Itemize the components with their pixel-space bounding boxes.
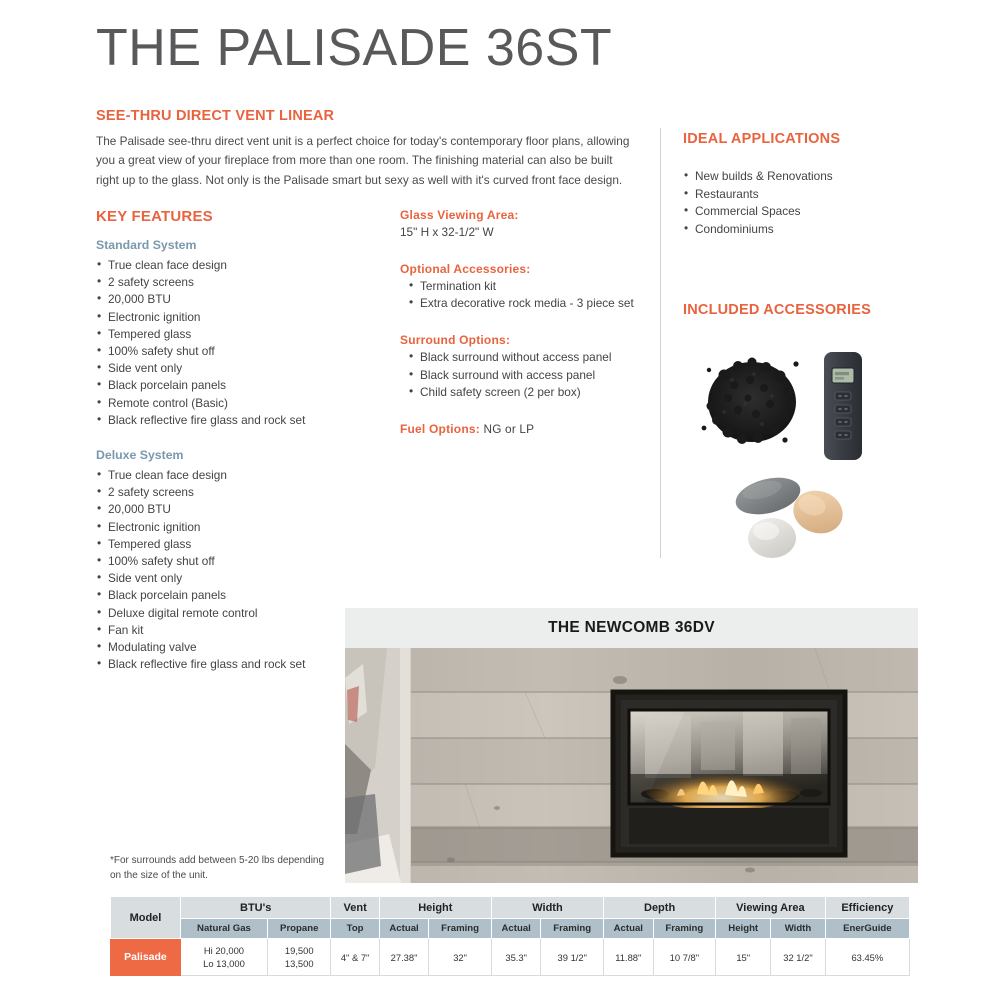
spec-table: Model BTU's Vent Height Width Depth View… [110,896,910,976]
sub-propane: Propane [268,919,331,939]
col-btus: BTU's [180,897,331,919]
list-item: Electronic ignition [96,519,396,536]
cell-width-actual: 35.3" [491,939,541,976]
list-item: Black reflective fire glass and rock set [96,412,396,429]
table-head: Model BTU's Vent Height Width Depth View… [111,897,910,939]
list-item: 20,000 BTU [96,291,396,308]
list-item: Extra decorative rock media - 3 piece se… [400,295,650,312]
propane-hi: 19,500 [269,944,329,957]
col-efficiency: Efficiency [825,897,909,919]
fireplace-photo-illustration [345,648,918,883]
cell-viewing-height: 15" [716,939,771,976]
sub-natural-gas: Natural Gas [180,919,267,939]
surround-options-block: Surround Options: Black surround without… [400,333,650,401]
col-height: Height [379,897,491,919]
glass-viewing-area-value: 15" H x 32-1/2" W [400,224,650,241]
list-item: Commercial Spaces [683,203,953,221]
glass-viewing-area-label: Glass Viewing Area: [400,208,650,222]
sub-viewing-width: Width [771,919,825,939]
included-accessories-images [690,340,925,565]
fuel-options-block: Fuel Options: NG or LP [400,422,650,436]
digital-remote-control-icon [824,352,862,460]
cell-width-framing: 39 1/2" [541,939,604,976]
fireplace-photo [345,648,918,883]
col-width: Width [491,897,603,919]
intro-paragraph: The Palisade see-thru direct vent unit i… [96,132,636,190]
standard-system-heading: Standard System [96,238,396,252]
col-depth: Depth [604,897,716,919]
cell-viewing-width: 32 1/2" [771,939,825,976]
key-features-heading: KEY FEATURES [96,208,213,225]
sub-energuide: EnerGuide [825,919,909,939]
sub-depth-framing: Framing [653,919,716,939]
surround-options-label: Surround Options: [400,333,650,347]
col-model: Model [111,897,181,939]
ideal-applications-column: IDEAL APPLICATIONS New builds & Renovati… [683,131,953,238]
cell-model: Palisade [111,939,181,976]
product-photo-block: THE NEWCOMB 36DV [345,608,918,883]
sub-height-framing: Framing [429,919,492,939]
natural-gas-hi: Hi 20,000 [182,944,266,957]
list-item: Tempered glass [96,326,396,343]
accessories-illustration [690,340,925,565]
list-item: Remote control (Basic) [96,395,396,412]
cell-height-actual: 27.38" [379,939,429,976]
optional-accessories-label: Optional Accessories: [400,262,650,276]
list-item: 20,000 BTU [96,501,396,518]
ideal-applications-heading: IDEAL APPLICATIONS [683,131,953,147]
list-item: 2 safety screens [96,484,396,501]
sub-depth-actual: Actual [604,919,654,939]
page-title: THE PALISADE 36ST [96,18,612,78]
list-item: New builds & Renovations [683,168,953,186]
sub-width-framing: Framing [541,919,604,939]
propane-lo: 13,500 [269,957,329,970]
natural-gas-lo: Lo 13,000 [182,957,266,970]
fuel-options-value: NG or LP [483,422,534,436]
cell-depth-actual: 11.88" [604,939,654,976]
list-item: 2 safety screens [96,274,396,291]
list-item: Side vent only [96,360,396,377]
list-item: Black surround with access panel [400,367,650,384]
list-item: Black porcelain panels [96,377,396,394]
list-item: Side vent only [96,570,396,587]
ideal-applications-list: New builds & Renovations Restaurants Com… [683,168,953,238]
list-item: True clean face design [96,467,396,484]
cell-depth-framing: 10 7/8" [653,939,716,976]
list-item: Restaurants [683,186,953,204]
black-fire-glass-media-icon [702,358,799,445]
glass-viewing-area-block: Glass Viewing Area: 15" H x 32-1/2" W [400,208,650,241]
surround-options-list: Black surround without access panel Blac… [400,349,650,401]
list-item: Termination kit [400,278,650,295]
sub-viewing-height: Height [716,919,771,939]
list-item: Electronic ignition [96,309,396,326]
fuel-options-label: Fuel Options: [400,422,480,436]
table-footnote: *For surrounds add between 5-20 lbs depe… [110,853,335,883]
optional-accessories-block: Optional Accessories: Termination kit Ex… [400,262,650,312]
list-item: Condominiums [683,221,953,239]
photo-caption: THE NEWCOMB 36DV [345,608,918,648]
table-group-header-row: Model BTU's Vent Height Width Depth View… [111,897,910,919]
specs-column: Glass Viewing Area: 15" H x 32-1/2" W Op… [400,208,650,436]
cell-vent-top: 4" & 7" [331,939,379,976]
cell-height-framing: 32" [429,939,492,976]
list-item: 100% safety shut off [96,343,396,360]
included-accessories-heading: INCLUDED ACCESSORIES [683,302,871,318]
list-item: Tempered glass [96,536,396,553]
spec-sheet-page: THE PALISADE 36ST SEE-THRU DIRECT VENT L… [0,0,1000,1000]
sub-height-actual: Actual [379,919,429,939]
list-item: Black surround without access panel [400,349,650,366]
table-row: Palisade Hi 20,000 Lo 13,000 19,500 13,5… [111,939,910,976]
list-item: Child safety screen (2 per box) [400,384,650,401]
list-item: True clean face design [96,257,396,274]
decorative-rock-set-icon [732,472,848,558]
deluxe-system-heading: Deluxe System [96,448,396,462]
sub-width-actual: Actual [491,919,541,939]
section-subtitle: SEE-THRU DIRECT VENT LINEAR [96,108,334,124]
table-body: Palisade Hi 20,000 Lo 13,000 19,500 13,5… [111,939,910,976]
list-item: Black porcelain panels [96,587,396,604]
cell-efficiency: 63.45% [825,939,909,976]
cell-propane: 19,500 13,500 [268,939,331,976]
column-divider [660,128,661,558]
table-sub-header-row: Natural Gas Propane Top Actual Framing A… [111,919,910,939]
sub-vent-top: Top [331,919,379,939]
spacer [96,429,396,448]
cell-natural-gas: Hi 20,000 Lo 13,000 [180,939,267,976]
col-vent: Vent [331,897,379,919]
standard-system-list: True clean face design 2 safety screens … [96,257,396,429]
optional-accessories-list: Termination kit Extra decorative rock me… [400,278,650,312]
col-viewing-area: Viewing Area [716,897,826,919]
list-item: 100% safety shut off [96,553,396,570]
